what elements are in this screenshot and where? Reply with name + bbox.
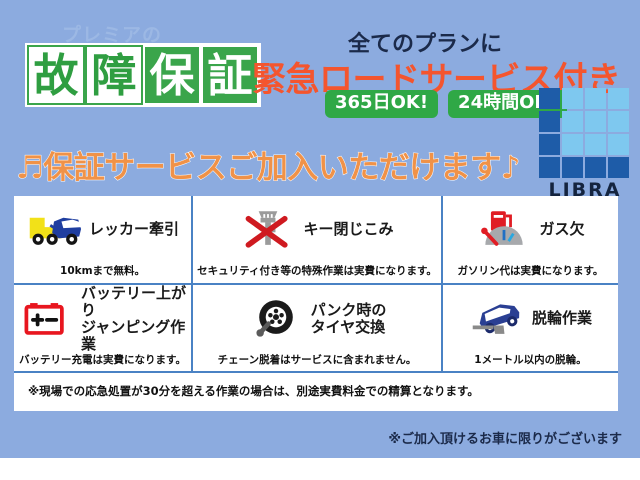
libra-grid-icon [539,88,631,178]
badge-365-days: 365日OK! [325,90,438,118]
service-note: チェーン脱着はサービスに含まれません。 [218,352,417,367]
service-grid: レッカー牽引 10kmまで無料。 [14,196,618,371]
banner-disclaimer: ※ご加入頂けるお車に限りがございます [388,428,622,447]
service-note: ガソリン代は実費になります。 [457,263,603,278]
warranty-tagline: ♬保証サービスご加入いただけます♪ [16,142,520,187]
service-note: バッテリー充電は実費になります。 [19,352,186,367]
service-cell-out-of-fuel: ガス欠 ガソリン代は実費になります。 [441,196,618,283]
service-note: 1メートル以内の脱輪。 [474,352,586,367]
service-cell-tire-change: パンク時の タイヤ交換 チェーン脱着はサービスに含まれません。 [191,283,441,371]
stuck-wheel-icon [469,296,525,342]
warranty-logo: 故 障 保 証 [25,43,261,107]
service-title: ガス欠 [539,221,584,238]
service-title: キー閉じこみ [303,221,393,238]
service-cell-battery: バッテリー上がり ジャンピング作業 バッテリー充電は実費になります。 [14,283,191,371]
ok-badge-group: 365日OK! 24時間OK! [325,90,567,118]
tire-change-icon [248,296,304,342]
key-lockout-icon [240,207,296,253]
service-title: バッテリー上がり ジャンピング作業 [81,285,187,354]
service-title: パンク時の タイヤ交換 [311,302,387,337]
promo-banner: プレミアの 故 障 保 証 全てのプランに 緊急ロードサービス付き 365日OK… [0,0,640,458]
tow-truck-icon [26,207,82,253]
service-note: 10kmまで無料。 [60,263,145,278]
banner-header: プレミアの 故 障 保 証 全てのプランに 緊急ロードサービス付き 365日OK… [0,0,640,196]
fuel-empty-icon [476,207,532,253]
panel-divider [14,371,618,373]
battery-icon [18,296,74,342]
service-cell-stuck-wheel: 脱輪作業 1メートル以内の脱輪。 [441,283,618,371]
service-note: セキュリティ付き等の特殊作業は実費になります。 [197,263,437,278]
logo-char-4: 証 [201,45,259,105]
service-cell-key-lockout: キー閉じこみ セキュリティ付き等の特殊作業は実費になります。 [191,196,441,283]
logo-char-3: 保 [143,45,201,105]
logo-char-2: 障 [85,45,143,105]
libra-brand-logo: LIBRA [539,88,631,200]
service-cell-towing: レッカー牽引 10kmまで無料。 [14,196,191,283]
service-panel: レッカー牽引 10kmまで無料。 [14,196,618,411]
logo-char-1: 故 [27,45,85,105]
panel-footnote: ※現場での応急処置が30分を超える作業の場合は、別途実費料金での精算となります。 [28,383,479,399]
service-title: レッカー牽引 [89,221,179,238]
service-title: 脱輪作業 [532,310,592,327]
